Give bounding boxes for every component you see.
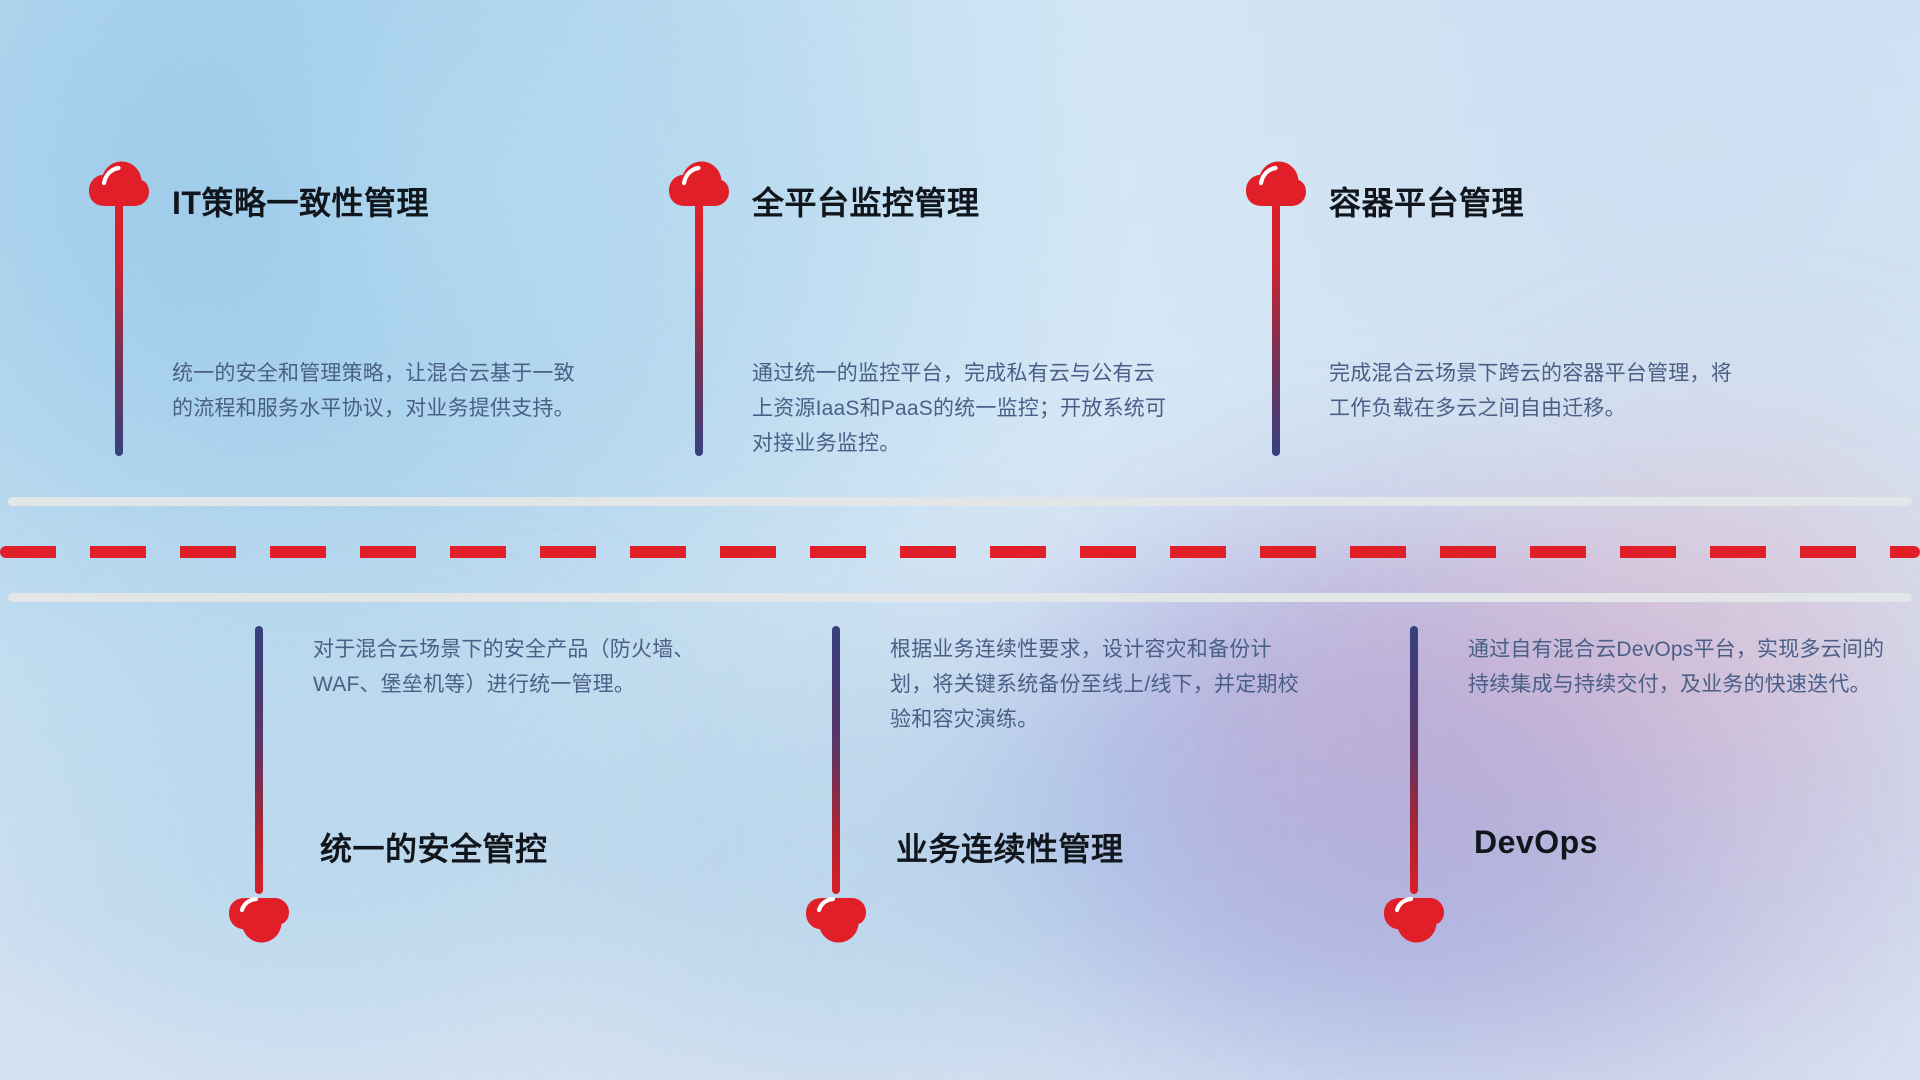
bottom-column-2-title: 业务连续性管理 [896, 824, 1124, 870]
connector-stem [115, 196, 123, 456]
cloud-icon [1383, 896, 1445, 944]
bottom-column-3-body: 通过自有混合云DevOps平台，实现多云间的持续集成与持续交付，及业务的快速迭代… [1468, 632, 1888, 702]
top-column-2-body: 通过统一的监控平台，完成私有云与公有云上资源IaaS和PaaS的统一监控；开放系… [752, 356, 1172, 461]
divider-rule-bottom [8, 593, 1912, 602]
connector-stem [1272, 196, 1280, 456]
top-column-1-body: 统一的安全和管理策略，让混合云基于一致的流程和服务水平协议，对业务提供支持。 [172, 356, 582, 426]
divider-dashed-red [0, 546, 1920, 558]
connector-stem [832, 626, 840, 894]
connector-stem [255, 626, 263, 894]
top-column-3-body: 完成混合云场景下跨云的容器平台管理，将工作负载在多云之间自由迁移。 [1329, 356, 1747, 426]
connector-stem [1410, 626, 1418, 894]
top-column-2-title: 全平台监控管理 [752, 178, 980, 224]
divider-rule-top [8, 497, 1912, 506]
cloud-icon [805, 896, 867, 944]
bottom-column-3-title: DevOps [1474, 824, 1598, 861]
infographic-canvas: IT策略一致性管理 统一的安全和管理策略，让混合云基于一致的流程和服务水平协议，… [0, 0, 1920, 1080]
background-blob [1250, 760, 1730, 1080]
cloud-icon [228, 896, 290, 944]
bottom-column-1-title: 统一的安全管控 [320, 824, 548, 870]
connector-stem [695, 196, 703, 456]
top-column-3-title: 容器平台管理 [1329, 178, 1524, 224]
bottom-column-2-body: 根据业务连续性要求，设计容灾和备份计划，将关键系统备份至线上/线下，并定期校验和… [890, 632, 1310, 737]
top-column-1-title: IT策略一致性管理 [172, 178, 429, 224]
bottom-column-1-body: 对于混合云场景下的安全产品（防火墙、WAF、堡垒机等）进行统一管理。 [313, 632, 723, 702]
